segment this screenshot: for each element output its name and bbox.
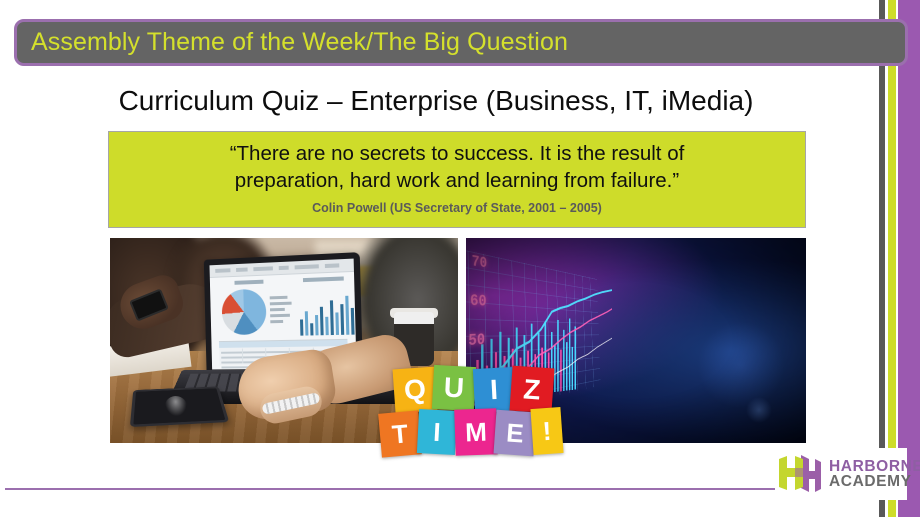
time-tile-exclamation: ! xyxy=(530,407,563,455)
quote-box: “There are no secrets to success. It is … xyxy=(108,131,806,228)
logo-wordmark: HARBORNE ACADEMY xyxy=(829,459,920,490)
quote-attribution: Colin Powell (US Secretary of State, 200… xyxy=(123,201,791,215)
slide-title: Curriculum Quiz – Enterprise (Business, … xyxy=(0,85,872,117)
harborne-academy-logo: HARBORNE ACADEMY xyxy=(775,448,907,500)
time-tile-e-letter: E xyxy=(505,419,524,446)
time-word-row: T I M E ! xyxy=(378,408,564,454)
quiz-tile-q-letter: Q xyxy=(403,375,427,404)
quiz-tile-u-letter: U xyxy=(443,373,465,402)
decor-bar-gray xyxy=(879,0,885,517)
decor-bar-purple xyxy=(898,0,920,517)
dashboard-bar-chart xyxy=(299,283,356,336)
header-banner: Assembly Theme of the Week/The Big Quest… xyxy=(14,19,908,66)
quiz-tile-q: Q xyxy=(393,367,438,414)
quiz-tile-i-letter: I xyxy=(489,376,498,404)
quiz-time-graphic: Q U I Z T I M E ! xyxy=(378,366,564,462)
dashboard-pie-chart xyxy=(221,289,266,336)
bottom-divider-rule xyxy=(5,488,871,490)
time-tile-t: T xyxy=(378,410,422,457)
quiz-tile-z-letter: Z xyxy=(522,375,541,404)
harborne-h-icon xyxy=(775,451,823,497)
quiz-word-row: Q U I Z xyxy=(378,366,564,412)
time-tile-t-letter: T xyxy=(391,420,409,447)
quote-line-2: preparation, hard work and learning from… xyxy=(123,167,791,194)
quiz-tile-z: Z xyxy=(509,366,554,414)
quiz-tile-u: U xyxy=(432,365,476,411)
time-tile-m-letter: M xyxy=(465,419,488,446)
decor-bar-green xyxy=(888,0,896,517)
logo-line-harborne: HARBORNE xyxy=(829,459,920,475)
quote-line-1: “There are no secrets to success. It is … xyxy=(123,140,791,167)
time-tile-i: I xyxy=(417,409,457,455)
time-tile-i-letter: I xyxy=(433,419,442,445)
time-tile-m: M xyxy=(454,408,498,455)
logo-line-academy: ACADEMY xyxy=(829,474,920,490)
header-title: Assembly Theme of the Week/The Big Quest… xyxy=(17,30,568,55)
time-tile-exclamation-letter: ! xyxy=(542,418,552,445)
tablet-device xyxy=(130,386,229,427)
